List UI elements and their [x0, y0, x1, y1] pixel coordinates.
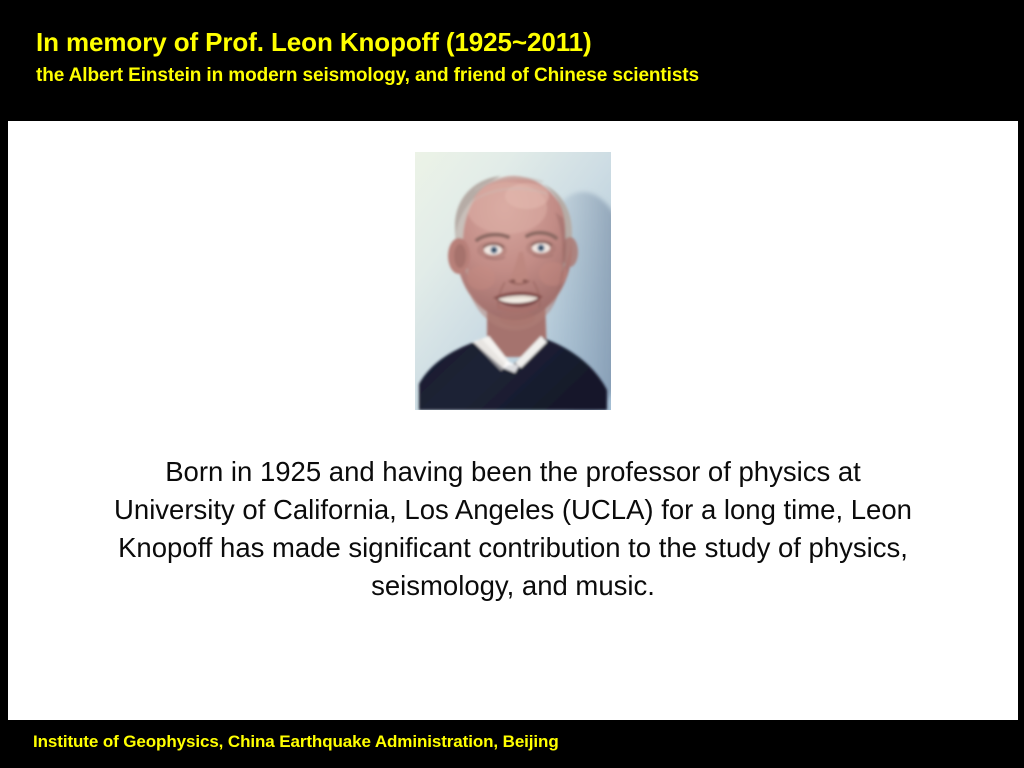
slide-title: In memory of Prof. Leon Knopoff (1925~20…	[36, 27, 592, 58]
slide-subtitle: the Albert Einstein in modern seismology…	[36, 65, 699, 87]
slide-header: In memory of Prof. Leon Knopoff (1925~20…	[0, 0, 1024, 121]
footer-affiliation: Institute of Geophysics, China Earthquak…	[33, 732, 559, 752]
biography-paragraph: Born in 1925 and having been the profess…	[113, 453, 913, 605]
portrait-photo	[415, 152, 611, 410]
slide-footer: Institute of Geophysics, China Earthquak…	[0, 720, 1024, 768]
content-panel: Born in 1925 and having been the profess…	[8, 121, 1018, 720]
presentation-slide: In memory of Prof. Leon Knopoff (1925~20…	[0, 0, 1024, 768]
